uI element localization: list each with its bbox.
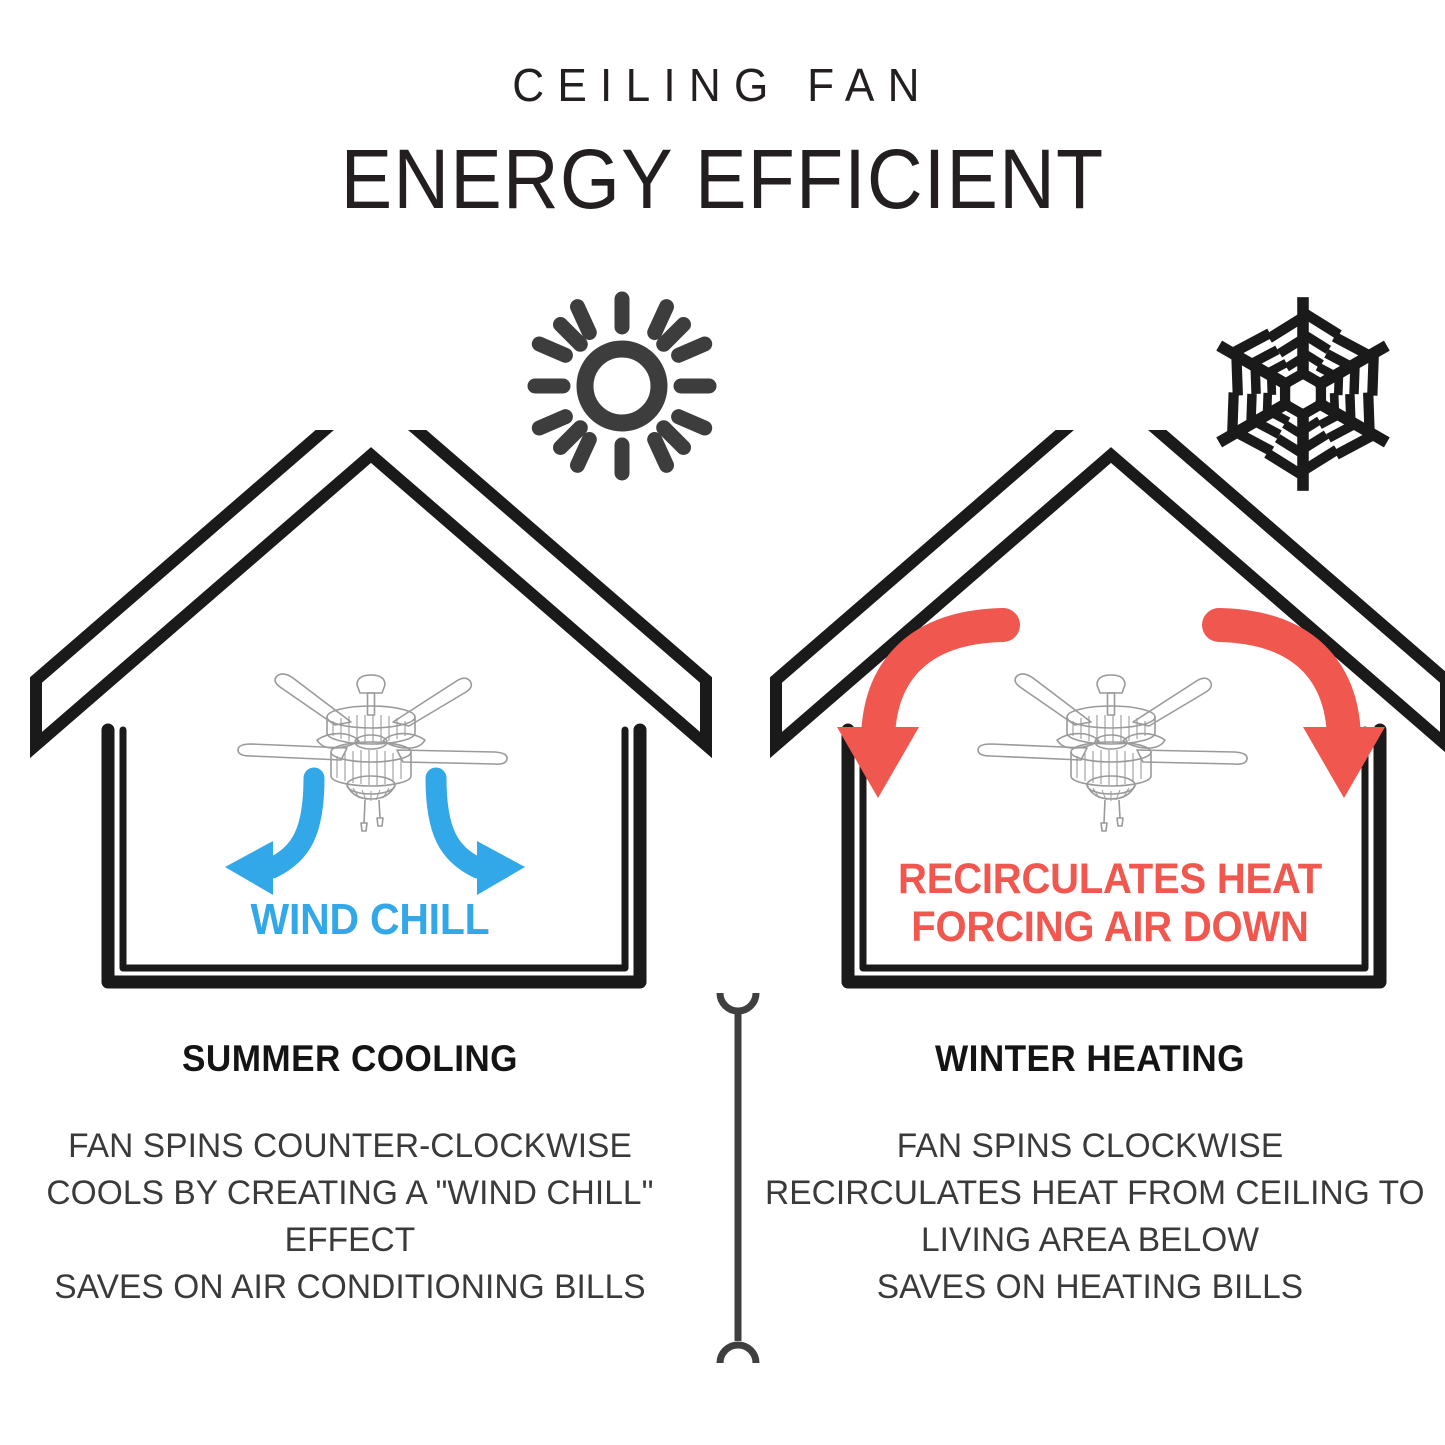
winter-body-line-3: LIVING AREA BELOW — [765, 1217, 1415, 1264]
recirculates-heat-label: RECIRCULATES HEAT FORCING AIR DOWN — [785, 855, 1436, 951]
wind-chill-label: WIND CHILL — [45, 895, 696, 944]
summer-body-line-2: COOLS BY CREATING A "WIND CHILL" — [25, 1170, 675, 1217]
summer-scene: WIND CHILL — [20, 430, 720, 1010]
winter-column-title: WINTER HEATING — [777, 1040, 1404, 1077]
recirculates-heat-line-2: FORCING AIR DOWN — [785, 903, 1436, 951]
page-header: CEILING FAN ENERGY EFFICIENT — [0, 0, 1445, 218]
summer-column: SUMMER COOLING FAN SPINS COUNTER-CLOCKWI… — [20, 1040, 680, 1311]
winter-body-line-1: FAN SPINS CLOCKWISE — [765, 1123, 1415, 1170]
page-title: ENERGY EFFICIENT — [7, 137, 1438, 221]
airflow-arrow-right — [436, 778, 525, 895]
ceiling-fan-illustration — [238, 664, 507, 831]
ceiling-fan-illustration — [978, 674, 1247, 831]
summer-column-title: SUMMER COOLING — [37, 1040, 664, 1077]
page-kicker: CEILING FAN — [29, 62, 1416, 108]
winter-body-line-2: RECIRCULATES HEAT FROM CEILING TO — [765, 1170, 1415, 1217]
summer-body-line-3: EFFECT — [25, 1217, 675, 1264]
winter-column: WINTER HEATING FAN SPINS CLOCKWISE RECIR… — [760, 1040, 1420, 1311]
recirculates-heat-line-1: RECIRCULATES HEAT — [785, 855, 1436, 903]
infographic-page: CEILING FAN ENERGY EFFICIENT — [0, 0, 1445, 1445]
summer-body-line-1: FAN SPINS COUNTER-CLOCKWISE — [25, 1123, 675, 1170]
house-roof — [36, 430, 706, 745]
heatflow-arrow-right — [1219, 625, 1385, 798]
summer-body-line-4: SAVES ON AIR CONDITIONING BILLS — [25, 1264, 675, 1311]
winter-scene: RECIRCULATES HEAT FORCING AIR DOWN — [760, 430, 1445, 1010]
winter-body-line-4: SAVES ON HEATING BILLS — [765, 1264, 1415, 1311]
summer-column-body: FAN SPINS COUNTER-CLOCKWISE COOLS BY CRE… — [25, 1123, 675, 1311]
winter-column-body: FAN SPINS CLOCKWISE RECIRCULATES HEAT FR… — [765, 1123, 1415, 1311]
